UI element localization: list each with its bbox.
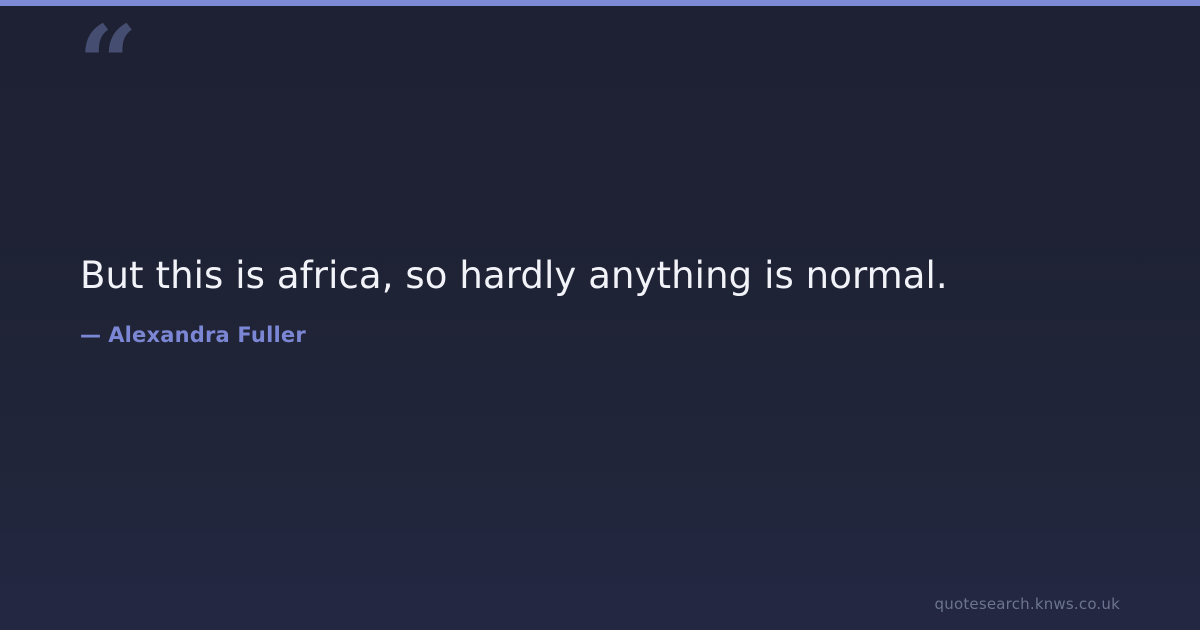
open-quote-icon: “ (78, 12, 136, 116)
quote-card: “ But this is africa, so hardly anything… (0, 0, 1200, 630)
attribution-dash: — (80, 323, 108, 348)
quote-text: But this is africa, so hardly anything i… (80, 252, 1120, 301)
quote-content: But this is africa, so hardly anything i… (80, 252, 1120, 348)
attribution-author: Alexandra Fuller (108, 323, 306, 347)
top-accent-bar (0, 0, 1200, 6)
quote-attribution: —Alexandra Fuller (80, 301, 1120, 348)
site-watermark: quotesearch.knws.co.uk (935, 597, 1120, 612)
